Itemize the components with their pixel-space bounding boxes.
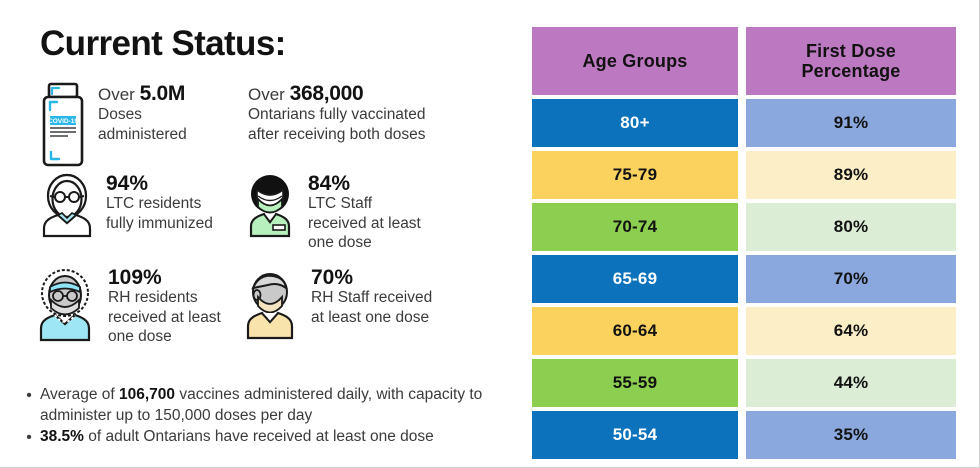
- stat-fully-vaccinated-desc: Ontarians fully vaccinated after receivi…: [248, 105, 426, 144]
- stat-rh-staff-desc: RH Staff received at least one dose: [311, 288, 432, 327]
- bullet-item: •Average of 106,700 vaccines administere…: [18, 385, 518, 426]
- stat-rh-residents-text: 109% RH residents received at least one …: [108, 266, 221, 347]
- stat-ltc-staff-value: 84%: [308, 174, 421, 194]
- stat-rh-residents-desc: RH residents received at least one dose: [108, 288, 221, 347]
- stat-ltc-staff-text: 84% LTC Staff received at least one dose: [308, 172, 421, 253]
- cell-age-group: 65-69: [532, 255, 738, 303]
- stat-ltc-staff-desc: LTC Staff received at least one dose: [308, 194, 421, 253]
- stat-doses-desc: Doses administered: [98, 105, 187, 144]
- cell-first-dose-percentage: 35%: [746, 411, 956, 459]
- bullet-emphasis: 38.5%: [40, 428, 84, 445]
- table-row: 60-6464%: [532, 307, 956, 355]
- stat-ltc-residents-desc: LTC residents fully immunized: [106, 194, 213, 233]
- stat-ltc-staff: 84% LTC Staff received at least one dose: [240, 172, 490, 253]
- rh-resident-icon: [30, 266, 100, 347]
- stat-doses-value: 5.0M: [140, 82, 186, 105]
- stat-rh-residents: 109% RH residents received at least one …: [30, 266, 260, 347]
- vaccine-vial-icon: COVID-19: [36, 82, 90, 173]
- bullet-emphasis: 106,700: [119, 386, 175, 403]
- cell-age-group: 70-74: [532, 203, 738, 251]
- cell-age-group: 50-54: [532, 411, 738, 459]
- stat-doses-headline: Over 5.0M: [98, 84, 187, 105]
- bullet-plain: of adult Ontarians have received at leas…: [84, 428, 434, 445]
- stat-fully-vaccinated: Over 368,000 Ontarians fully vaccinated …: [248, 82, 518, 144]
- senior-resident-icon: [36, 172, 98, 243]
- stat-doses-administered: COVID-19 Over 5.0M Doses administered: [36, 82, 276, 173]
- stat-fully-vaccinated-value: 368,000: [290, 82, 364, 105]
- stat-ltc-residents: 94% LTC residents fully immunized: [36, 172, 261, 243]
- stat-ltc-residents-text: 94% LTC residents fully immunized: [106, 172, 213, 233]
- table-row: 65-6970%: [532, 255, 956, 303]
- infographic-slide: Current Status: COVID-19: [0, 0, 980, 468]
- bullet-marker-icon: •: [18, 385, 40, 406]
- stat-rh-residents-value: 109%: [108, 268, 221, 288]
- stat-rh-staff: 70% RH Staff received at least one dose: [237, 266, 487, 345]
- cell-first-dose-percentage: 80%: [746, 203, 956, 251]
- stat-doses-text: Over 5.0M Doses administered: [98, 82, 187, 144]
- stat-rh-staff-value: 70%: [311, 268, 432, 288]
- cell-age-group: 55-59: [532, 359, 738, 407]
- cell-age-group: 75-79: [532, 151, 738, 199]
- summary-bullets: •Average of 106,700 vaccines administere…: [18, 385, 518, 449]
- table-row: 70-7480%: [532, 203, 956, 251]
- stat-fully-vaccinated-text: Over 368,000 Ontarians fully vaccinated …: [248, 82, 426, 144]
- cell-first-dose-percentage: 44%: [746, 359, 956, 407]
- svg-text:COVID-19: COVID-19: [48, 118, 78, 125]
- table-row: 80+91%: [532, 99, 956, 147]
- table-row: 75-7989%: [532, 151, 956, 199]
- stat-fully-vaccinated-prefix: Over: [248, 85, 290, 104]
- rh-staff-icon: [237, 266, 303, 345]
- table-row: 55-5944%: [532, 359, 956, 407]
- column-header-age-groups: Age Groups: [532, 27, 738, 95]
- cell-age-group: 80+: [532, 99, 738, 147]
- cell-age-group: 60-64: [532, 307, 738, 355]
- cell-first-dose-percentage: 89%: [746, 151, 956, 199]
- bullet-text: 38.5% of adult Ontarians have received a…: [40, 427, 434, 448]
- stat-doses-prefix: Over: [98, 85, 140, 104]
- bullet-text: Average of 106,700 vaccines administered…: [40, 385, 518, 426]
- column-header-first-dose-percentage: First Dose Percentage: [746, 27, 956, 95]
- bullet-plain: Average of: [40, 386, 119, 403]
- table-header-row: Age GroupsFirst Dose Percentage: [532, 27, 956, 95]
- stat-fully-vaccinated-headline: Over 368,000: [248, 84, 426, 105]
- stat-rh-staff-text: 70% RH Staff received at least one dose: [311, 266, 432, 327]
- cell-first-dose-percentage: 91%: [746, 99, 956, 147]
- ltc-staff-icon: [240, 172, 300, 243]
- first-dose-percentage-table: Age GroupsFirst Dose Percentage80+91%75-…: [532, 27, 956, 459]
- stat-ltc-residents-value: 94%: [106, 174, 213, 194]
- page-title: Current Status:: [40, 24, 286, 64]
- status-panel: Current Status: COVID-19: [0, 0, 525, 468]
- bullet-item: •38.5% of adult Ontarians have received …: [18, 427, 518, 448]
- table-row: 50-5435%: [532, 411, 956, 459]
- cell-first-dose-percentage: 64%: [746, 307, 956, 355]
- bullet-marker-icon: •: [18, 427, 40, 448]
- cell-first-dose-percentage: 70%: [746, 255, 956, 303]
